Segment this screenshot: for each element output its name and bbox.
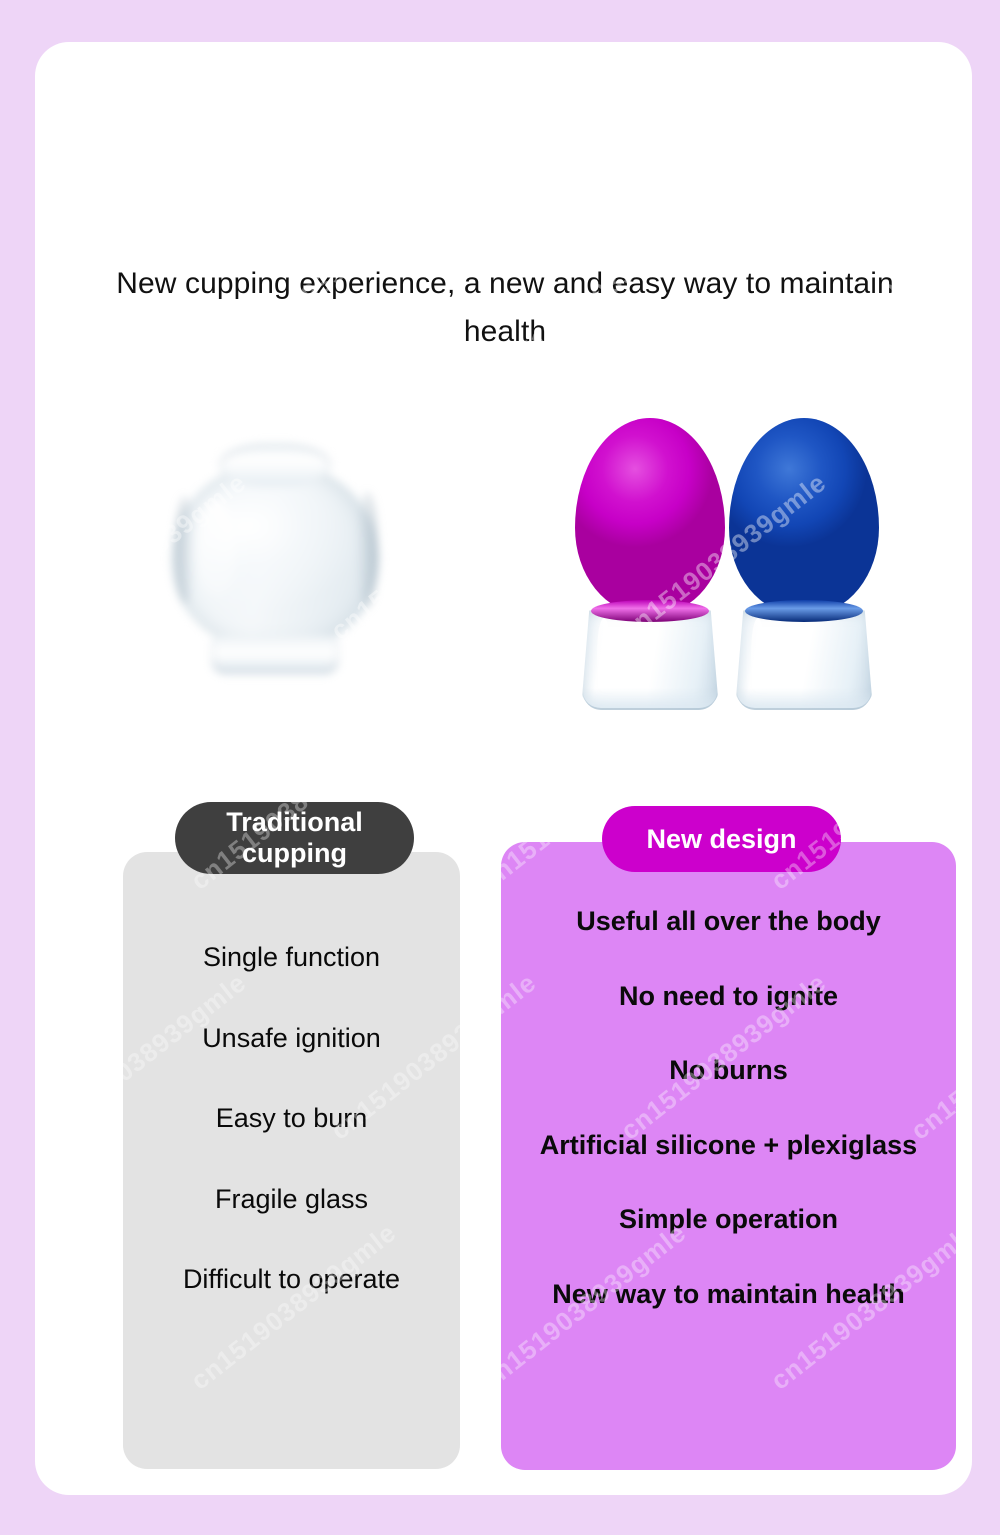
watermark-text: cn1519038939gmle [905,1467,972,1495]
product-photo-row [35,410,972,740]
list-item: Artificial silicone + plexiglass [501,1128,956,1163]
list-item: Difficult to operate [123,1262,460,1297]
cup-highlight [751,618,765,692]
watermark-text: cn1519038939gmle [35,217,112,396]
list-item: Fragile glass [123,1182,460,1217]
new-design-feature-list: Useful all over the body No need to igni… [501,904,956,1311]
cup-base-ring [583,688,717,710]
list-item: Unsafe ignition [123,1021,460,1056]
silicone-cupping-device-blue [729,418,879,714]
watermark-text: cn1519038939gmle [325,42,542,146]
list-item: No burns [501,1053,956,1088]
list-item: Useful all over the body [501,904,956,939]
silicone-cupping-device-magenta [575,418,725,714]
watermark-text: cn1519038939gmle [35,1217,112,1396]
list-item: Single function [123,940,460,975]
traditional-cupping-badge: Traditional cupping [175,802,414,874]
traditional-glass-cup-image [163,438,388,683]
watermark-text: cn1519038939gmle [35,42,252,146]
glass-cup-right-shading [356,492,378,608]
bulb-collar-magenta [591,600,709,622]
list-item: Simple operation [501,1202,956,1237]
glass-cup-rim [211,636,339,674]
glass-cup-left-shading [175,496,195,604]
list-item: New way to maintain health [501,1277,956,1312]
traditional-feature-list: Single function Unsafe ignition Easy to … [123,940,460,1297]
cup-highlight [597,618,611,692]
page-title: New cupping experience, a new and easy w… [115,260,895,356]
glass-cup-neck [219,444,331,486]
list-item: No need to ignite [501,979,956,1014]
silicone-bulb-magenta [575,418,725,614]
traditional-cupping-panel: Single function Unsafe ignition Easy to … [123,852,460,1469]
watermark-text: cn1519038939gmle [615,1467,832,1495]
list-item: Easy to burn [123,1101,460,1136]
new-design-panel: Useful all over the body No need to igni… [501,842,956,1470]
product-info-card: New cupping experience, a new and easy w… [35,42,972,1495]
watermark-text: cn1519038939gmle [905,42,972,146]
watermark-text: cn1519038939gmle [35,1467,252,1495]
plexiglass-cup-blue [735,610,873,710]
plexiglass-cup-magenta [581,610,719,710]
watermark-text: cn1519038939gmle [35,717,112,896]
cup-base-ring [737,688,871,710]
glass-cup-highlight [199,500,233,592]
silicone-bulb-blue [729,418,879,614]
watermark-text: cn1519038939gmle [615,42,832,146]
watermark-text: cn1519038939gmle [325,1467,542,1495]
bulb-collar-blue [745,600,863,622]
new-design-badge: New design [602,806,841,872]
